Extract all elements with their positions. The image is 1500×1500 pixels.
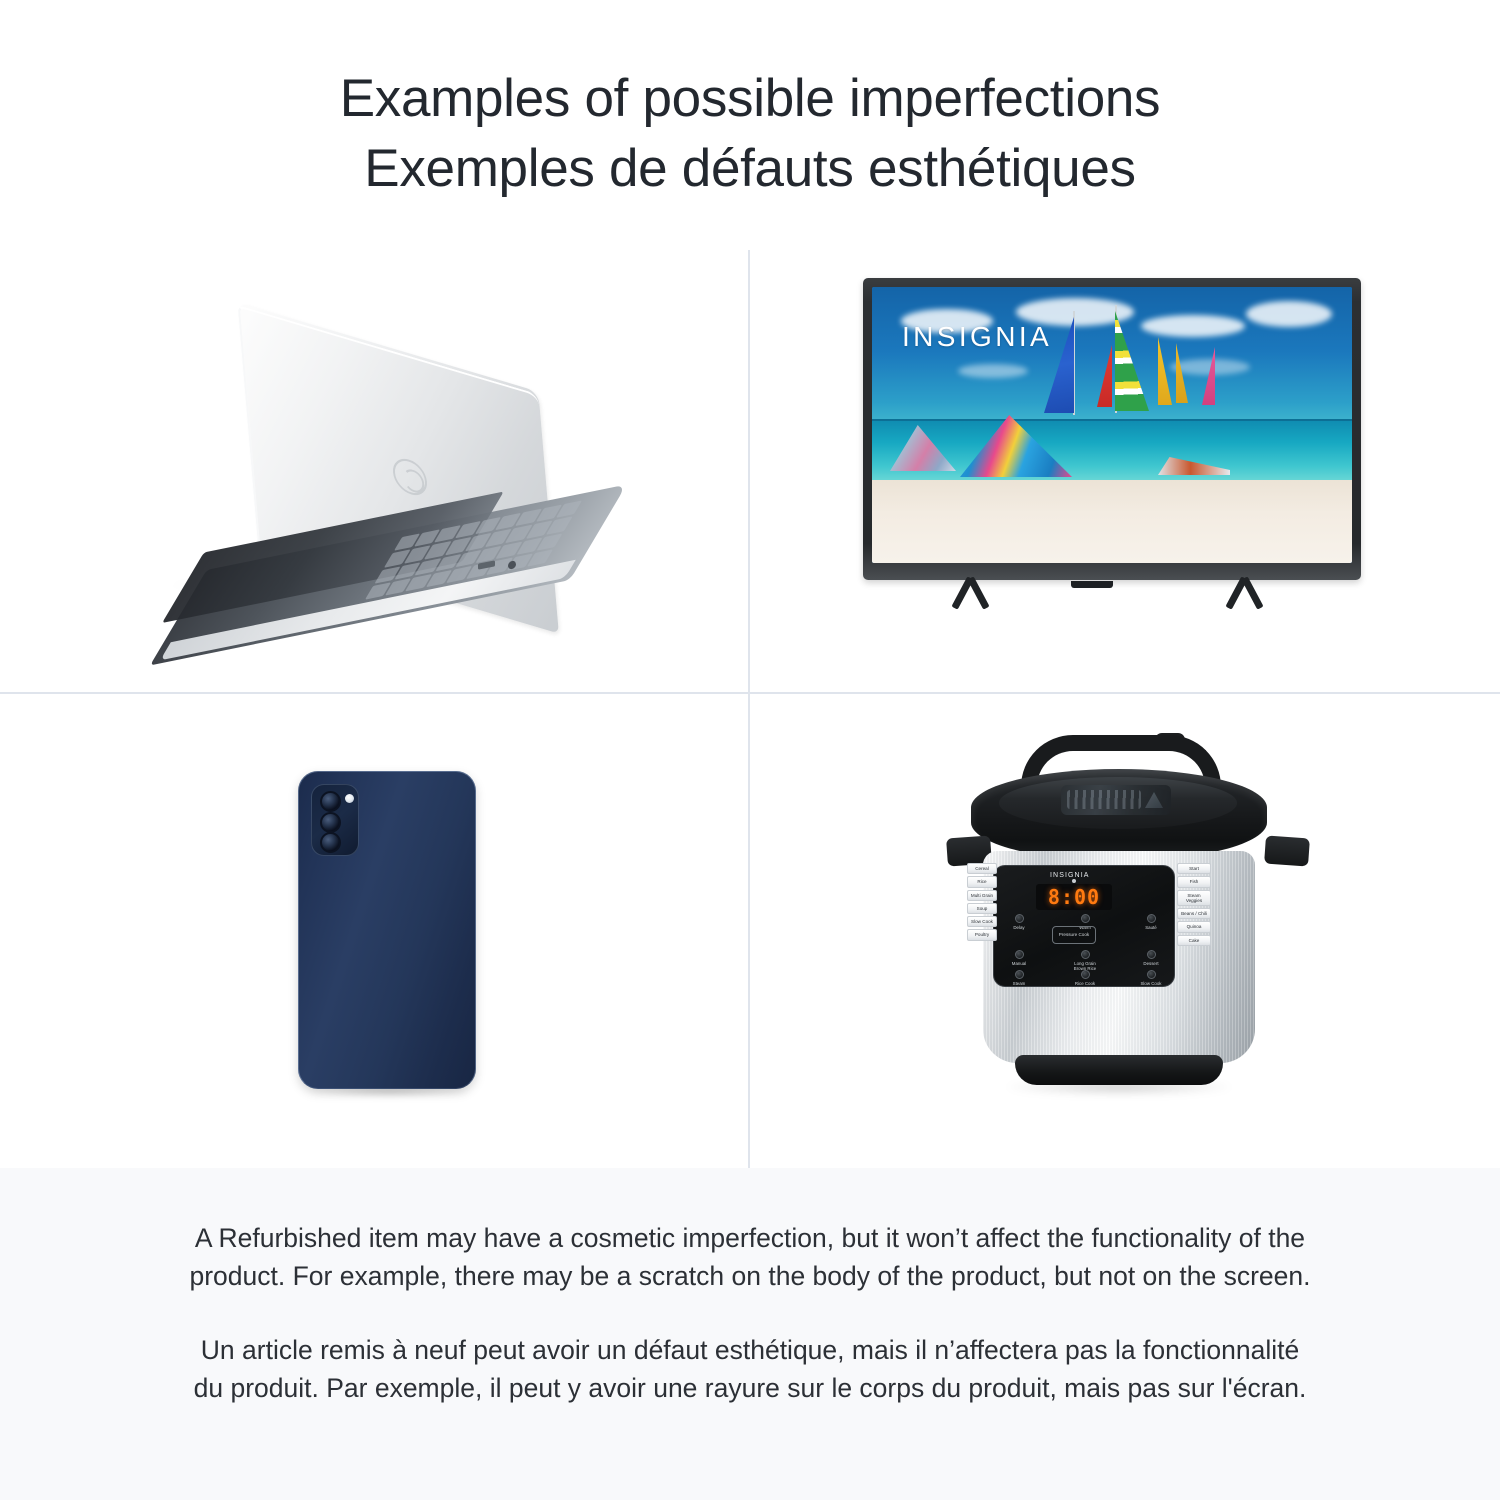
cooker-key[interactable]: Quinoa [1177, 921, 1211, 932]
tv-scene-horizon [872, 419, 1352, 421]
grid-divider-horizontal [0, 692, 1500, 694]
cooker-key[interactable]: Fish [1177, 876, 1211, 887]
tv-foot-left [941, 578, 1003, 616]
cooker-lid-badge-icon [1145, 792, 1163, 808]
tv-scene-cloud [1141, 315, 1245, 337]
cooker-control-panel: INSIGNIA 8:00 Delay Warm Sauté Pressure … [993, 865, 1175, 987]
imperfections-infographic: Examples of possible imperfections Exemp… [0, 0, 1500, 1500]
cooker-handle-right [1264, 835, 1310, 866]
footer-paragraph-french: Un article remis à neuf peut avoir un dé… [185, 1332, 1315, 1408]
cooker-left-key-column: Cereal Rice Multi Grain Soup Slow Cook P… [967, 863, 997, 941]
cooker-mini-label: Steam [1013, 981, 1026, 986]
grid-divider-vertical [748, 250, 750, 1168]
cooker-mini-button[interactable]: Steam [1002, 970, 1036, 986]
cooker-key[interactable]: Multi Grain [967, 890, 997, 901]
panel-smartphone [0, 693, 748, 1168]
cooker-key[interactable]: Slow Cook [967, 916, 997, 927]
cooker-key[interactable]: Cake [1177, 935, 1211, 946]
laptop-illustration [150, 310, 610, 640]
cooker-mini-label: Manual [1012, 961, 1026, 966]
phone-back-panel [298, 771, 476, 1089]
smartphone-illustration [298, 771, 518, 1101]
cooker-key[interactable]: Rice [967, 876, 997, 887]
television-illustration: INSIGNIA [863, 278, 1373, 628]
cooker-mini-label: Sauté [1145, 925, 1156, 930]
cooker-mini-button[interactable]: Manual [1002, 950, 1036, 972]
tv-foot-right [1215, 578, 1277, 616]
cooker-display-time: 8:00 [1048, 885, 1100, 909]
cooker-pressure-cook-button[interactable]: Pressure Cook [1052, 926, 1096, 944]
cooker-brand-label: INSIGNIA [1050, 872, 1090, 879]
panel-television: INSIGNIA [748, 250, 1500, 693]
cooker-key[interactable]: Start [1177, 863, 1211, 874]
cooker-mini-label: Delay [1013, 925, 1024, 930]
page-title-french: Exemples de défauts esthétiques [364, 134, 1135, 204]
camera-lens-icon [320, 832, 341, 853]
camera-flash-icon [345, 794, 354, 803]
cooker-base [1015, 1055, 1223, 1085]
cooker-key[interactable]: Beans / Chili [1177, 908, 1211, 919]
cooker-button-row-3: Steam Rice Cook Slow Cook [1002, 970, 1168, 986]
cooker-status-led [1072, 879, 1076, 883]
cooker-mini-button[interactable]: Long Grain Brown Rice [1068, 950, 1102, 972]
camera-lens-icon [320, 791, 341, 812]
cooker-mini-button[interactable]: Sauté [1134, 914, 1168, 930]
panel-pressure-cooker: Cereal Rice Multi Grain Soup Slow Cook P… [748, 693, 1500, 1168]
footer-paragraph-english: A Refurbished item may have a cosmetic i… [185, 1220, 1315, 1296]
cooker-display: 8:00 [1036, 884, 1112, 910]
tv-scene-sand [872, 480, 1352, 563]
cooker-lid-plate [1061, 785, 1171, 815]
panel-laptop [0, 250, 748, 693]
cooker-right-key-column: Start Fish Steam Veggies Beans / Chili Q… [1177, 863, 1211, 946]
cooker-mini-label: Rice Cook [1075, 981, 1095, 986]
product-example-grid: INSIGNIA [0, 250, 1500, 1168]
tv-scene-cloud [1246, 301, 1332, 327]
cooker-key[interactable]: Steam Veggies [1177, 890, 1211, 907]
cooker-key[interactable]: Soup [967, 903, 997, 914]
tv-bezel: INSIGNIA [863, 278, 1361, 580]
cooker-key[interactable]: Cereal [967, 863, 997, 874]
cooker-mini-button[interactable]: Dessert [1134, 950, 1168, 972]
cooker-mini-button[interactable]: Delay [1002, 914, 1036, 930]
page-title-english: Examples of possible imperfections [340, 64, 1161, 134]
tv-scene-sea [872, 419, 1352, 485]
tv-screen: INSIGNIA [872, 287, 1352, 563]
cooker-mini-label: Slow Cook [1141, 981, 1162, 986]
cooker-key[interactable]: Poultry [967, 929, 997, 940]
camera-lens-icon [320, 812, 341, 833]
cooker-mini-button[interactable]: Rice Cook [1068, 970, 1102, 986]
tv-chin [1071, 581, 1113, 588]
page-header: Examples of possible imperfections Exemp… [0, 0, 1500, 250]
cooker-button-row-2: Manual Long Grain Brown Rice Dessert [1002, 950, 1168, 972]
cooker-mini-button[interactable]: Slow Cook [1134, 970, 1168, 986]
pressure-cooker-illustration: Cereal Rice Multi Grain Soup Slow Cook P… [963, 733, 1293, 1123]
tv-screen-logo: INSIGNIA [902, 321, 1052, 353]
cooker-mini-label: Dessert [1143, 961, 1158, 966]
page-footer: A Refurbished item may have a cosmetic i… [0, 1168, 1500, 1500]
phone-camera-module [311, 784, 359, 856]
